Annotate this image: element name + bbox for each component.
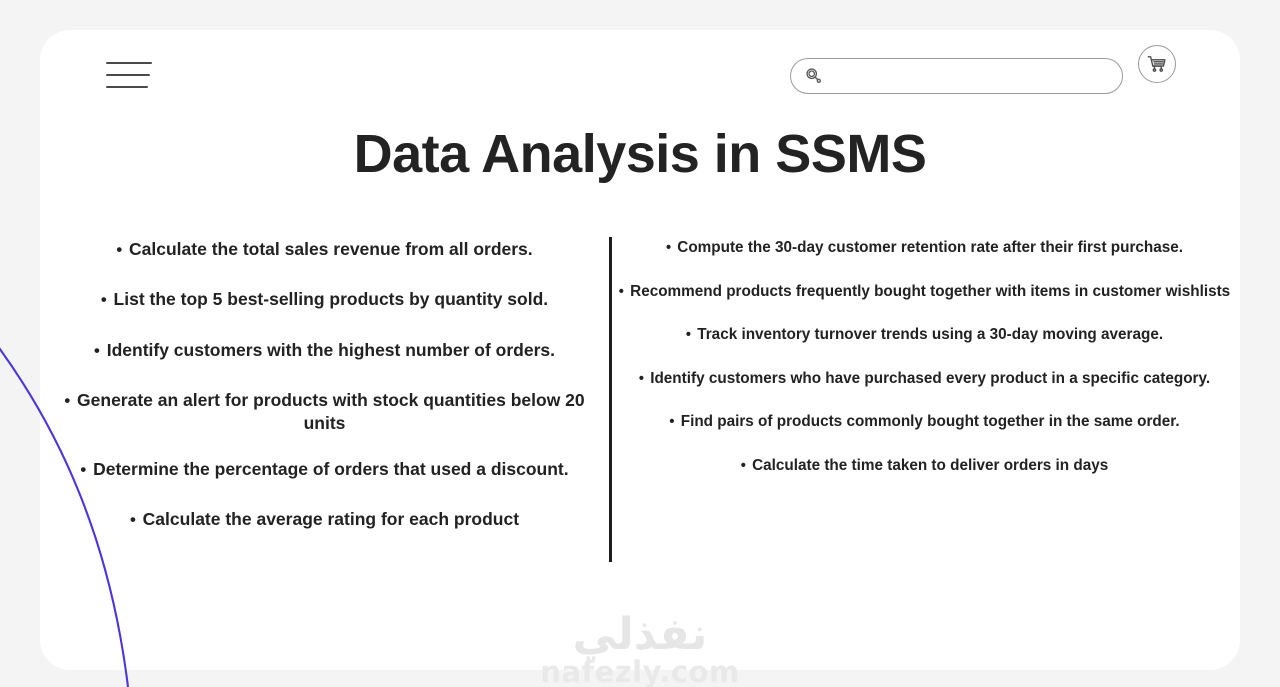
list-item-text: Identify customers who have purchased ev… [650, 370, 1210, 387]
bullet-marker: • [619, 284, 624, 300]
search-bar[interactable] [790, 58, 1123, 94]
list-item: • Identify customers with the highest nu… [40, 339, 609, 361]
list-item-text: Calculate the total sales revenue from a… [129, 239, 533, 259]
bullet-marker: • [116, 240, 122, 259]
list-item-text: Compute the 30-day customer retention ra… [677, 239, 1183, 256]
bullet-marker: • [101, 290, 107, 309]
list-item-text: List the top 5 best-selling products by … [114, 289, 549, 309]
list-item: • Calculate the total sales revenue from… [40, 238, 609, 260]
bullet-marker: • [80, 460, 86, 479]
hamburger-line-2 [106, 74, 150, 76]
column-left: • Calculate the total sales revenue from… [40, 230, 609, 570]
list-item-text: Generate an alert for products with stoc… [77, 390, 585, 432]
page-title: Data Analysis in SSMS [40, 125, 1240, 184]
bullet-marker: • [686, 327, 691, 343]
page-root: Data Analysis in SSMS • Calculate the to… [0, 0, 1280, 687]
list-item: • Calculate the average rating for each … [40, 508, 609, 530]
list-item: • Determine the percentage of orders tha… [40, 458, 609, 480]
content-card: Data Analysis in SSMS • Calculate the to… [40, 30, 1240, 670]
bullet-marker: • [669, 414, 674, 430]
list-item-text: Identify customers with the highest numb… [107, 340, 555, 360]
list-item-text: Calculate the average rating for each pr… [143, 509, 519, 529]
list-item-text: Track inventory turnover trends using a … [697, 326, 1163, 343]
list-item: • Generate an alert for products with st… [40, 389, 609, 434]
list-item: • List the top 5 best-selling products b… [40, 288, 609, 310]
bullet-marker: • [130, 510, 136, 529]
bullet-columns: • Calculate the total sales revenue from… [40, 230, 1240, 570]
list-item: • Recommend products frequently bought t… [609, 282, 1240, 302]
bullet-marker: • [94, 341, 100, 360]
bullet-marker: • [666, 240, 671, 256]
hamburger-menu-icon[interactable] [106, 60, 152, 90]
list-item: • Track inventory turnover trends using … [609, 325, 1240, 345]
cart-button[interactable] [1138, 45, 1176, 83]
column-right: • Compute the 30-day customer retention … [609, 230, 1240, 570]
search-input[interactable] [825, 59, 1122, 93]
bullet-marker: • [64, 391, 70, 410]
list-item-text: Recommend products frequently bought tog… [630, 283, 1230, 300]
list-item-text: Determine the percentage of orders that … [93, 459, 569, 479]
hamburger-line-3 [106, 86, 148, 88]
search-icon [803, 65, 825, 87]
shopping-cart-icon [1146, 53, 1168, 75]
list-item: • Find pairs of products commonly bought… [609, 412, 1240, 432]
list-item-text: Find pairs of products commonly bought t… [681, 413, 1180, 430]
bullet-list-right: • Compute the 30-day customer retention … [609, 238, 1240, 476]
list-item: • Calculate the time taken to deliver or… [609, 456, 1240, 476]
list-item: • Identify customers who have purchased … [609, 369, 1240, 389]
bullet-marker: • [741, 458, 746, 474]
hamburger-line-1 [106, 62, 152, 64]
list-item-text: Calculate the time taken to deliver orde… [752, 457, 1108, 474]
bullet-list-left: • Calculate the total sales revenue from… [40, 238, 609, 531]
list-item: • Compute the 30-day customer retention … [609, 238, 1240, 258]
bullet-marker: • [639, 371, 644, 387]
